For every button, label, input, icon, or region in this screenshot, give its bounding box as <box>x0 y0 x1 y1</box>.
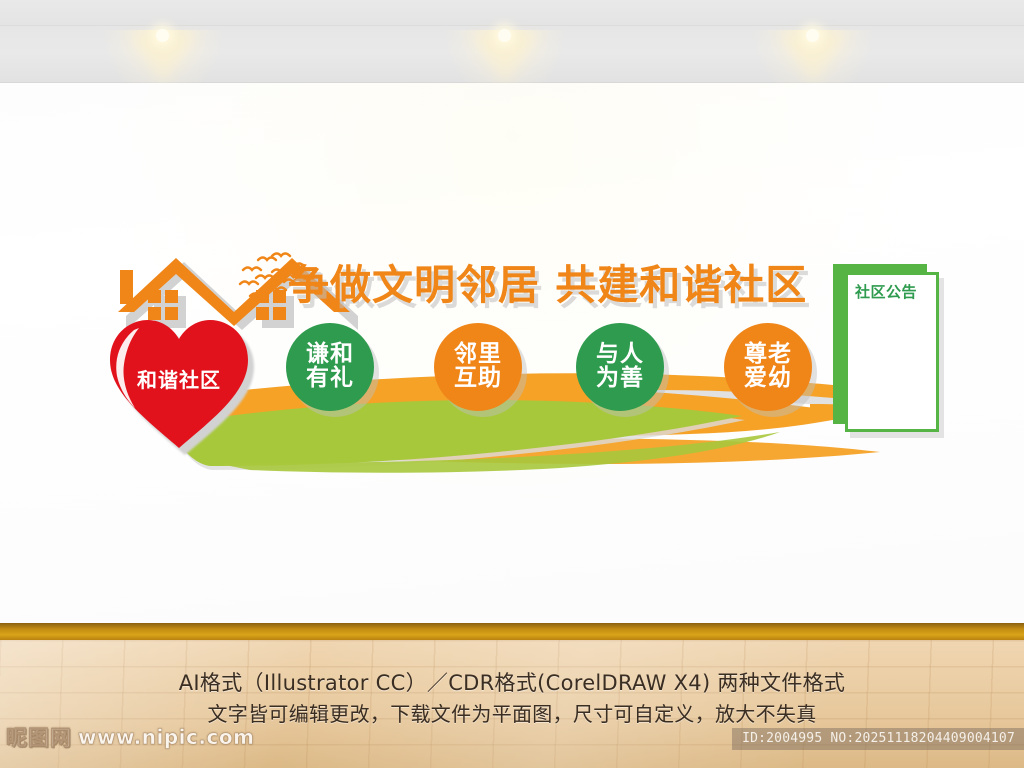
notice-board-title: 社区公告 <box>855 281 917 302</box>
circle-2-line-2: 互助 <box>454 367 502 391</box>
heart-badge: 和谐社区 <box>104 306 254 456</box>
circle-1-line-1: 谦和 <box>306 343 354 367</box>
watermark-logo: 昵图网 <box>6 722 72 752</box>
circle-4-line-1: 尊老 <box>744 343 792 367</box>
floor-skirting <box>0 623 1024 640</box>
heart-label: 和谐社区 <box>104 364 254 393</box>
footer-caption-line-1: AI格式（Illustrator CC）／CDR格式(CorelDRAW X4)… <box>0 668 1024 699</box>
circle-2-line-1: 邻里 <box>454 343 502 367</box>
page-title: 争做文明邻居 共建和谐社区 <box>288 251 807 311</box>
watermark: 昵图网 www.nipic.com <box>6 722 254 752</box>
screenshot-root: 争做文明邻居 共建和谐社区 和谐社区 谦和 有礼 邻里 互助 与人 为善 尊老 <box>0 0 1024 768</box>
circle-4-line-2: 爱幼 <box>744 367 792 391</box>
circle-3-line-2: 为善 <box>596 367 644 391</box>
circle-linli-huzhu[interactable]: 邻里 互助 <box>434 323 522 411</box>
circle-qianhe-youli[interactable]: 谦和 有礼 <box>286 323 374 411</box>
circle-yuren-weishan[interactable]: 与人 为善 <box>576 323 664 411</box>
circle-1-line-2: 有礼 <box>306 367 354 391</box>
watermark-url: www.nipic.com <box>78 725 254 749</box>
asset-id-badge: ID:2004995 NO:20251118204409004107 <box>732 728 1024 750</box>
footer-caption: AI格式（Illustrator CC）／CDR格式(CorelDRAW X4)… <box>0 668 1024 730</box>
circle-zunlao-aiyou[interactable]: 尊老 爱幼 <box>724 323 812 411</box>
circle-3-line-1: 与人 <box>596 343 644 367</box>
